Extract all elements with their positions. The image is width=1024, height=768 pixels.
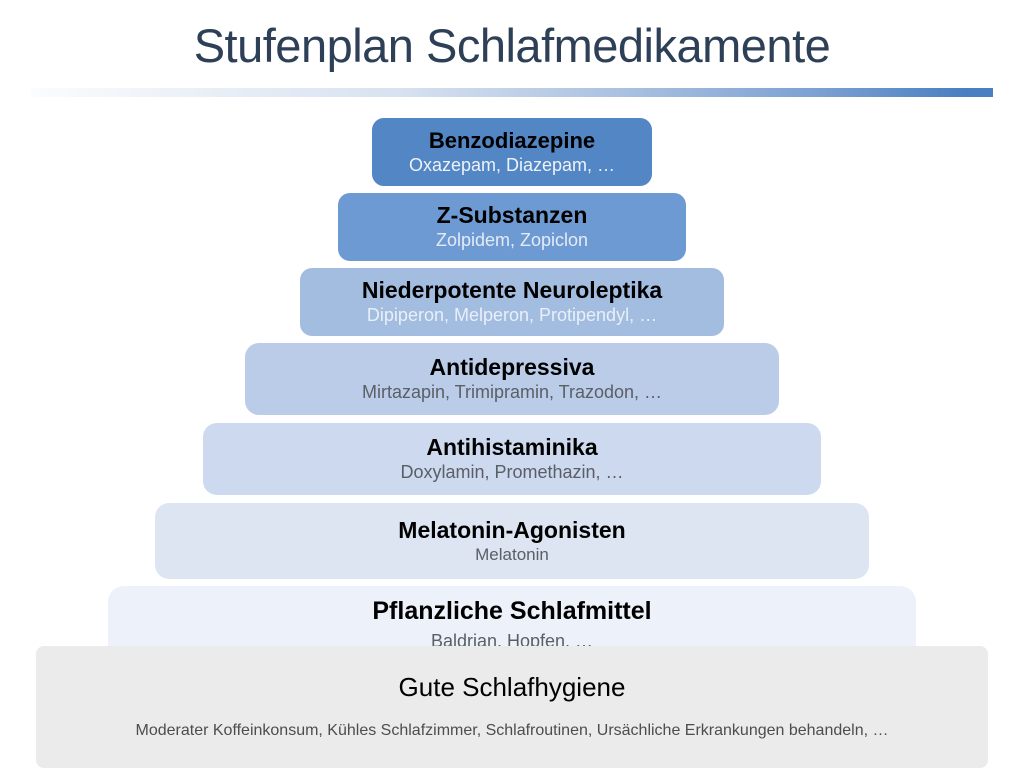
pyramid-tier-niederpotente-neuroleptika[interactable]: Niederpotente Neuroleptika Dipiperon, Me… <box>300 268 724 336</box>
tier-label: Niederpotente Neuroleptika <box>362 277 662 303</box>
pyramid-tier-gute-schlafhygiene[interactable]: Gute Schlafhygiene Moderater Koffeinkons… <box>36 646 988 768</box>
slide-root: Stufenplan Schlafmedikamente Benzodiazep… <box>0 0 1024 768</box>
tier-examples: Mirtazapin, Trimipramin, Trazodon, … <box>362 382 662 404</box>
pyramid-tier-antihistaminika[interactable]: Antihistaminika Doxylamin, Promethazin, … <box>203 423 821 495</box>
title-area: Stufenplan Schlafmedikamente <box>0 0 1024 100</box>
tier-examples: Zolpidem, Zopiclon <box>436 230 588 252</box>
tier-label: Antidepressiva <box>430 354 595 380</box>
page-title: Stufenplan Schlafmedikamente <box>0 20 1024 72</box>
tier-label: Antihistaminika <box>426 434 597 460</box>
pyramid-tier-antidepressiva[interactable]: Antidepressiva Mirtazapin, Trimipramin, … <box>245 343 779 415</box>
tier-examples: Moderater Koffeinkonsum, Kühles Schlafzi… <box>136 721 889 740</box>
tier-examples: Dipiperon, Melperon, Protipendyl, … <box>367 305 657 327</box>
tier-label: Z-Substanzen <box>437 202 588 228</box>
pyramid-diagram: Benzodiazepine Oxazepam, Diazepam, … Z-S… <box>0 118 1024 768</box>
tier-examples: Doxylamin, Promethazin, … <box>400 462 623 484</box>
title-underline-rule <box>31 88 993 97</box>
tier-examples: Melatonin <box>475 545 549 565</box>
tier-label: Gute Schlafhygiene <box>399 673 626 703</box>
pyramid-tier-z-substanzen[interactable]: Z-Substanzen Zolpidem, Zopiclon <box>338 193 686 261</box>
tier-label: Benzodiazepine <box>429 128 595 153</box>
pyramid-tier-benzodiazepine[interactable]: Benzodiazepine Oxazepam, Diazepam, … <box>372 118 652 186</box>
pyramid-tier-melatonin-agonisten[interactable]: Melatonin-Agonisten Melatonin <box>155 503 869 579</box>
tier-examples: Oxazepam, Diazepam, … <box>409 155 615 177</box>
tier-label: Pflanzliche Schlafmittel <box>372 597 651 626</box>
tier-label: Melatonin-Agonisten <box>398 517 625 543</box>
